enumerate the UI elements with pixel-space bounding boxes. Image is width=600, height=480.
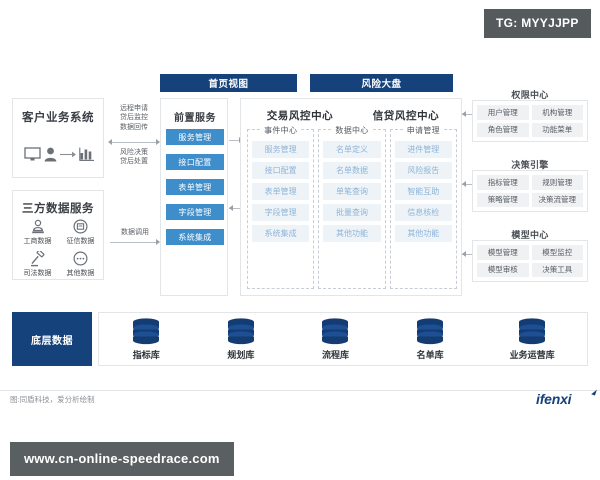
database-icon bbox=[517, 318, 547, 345]
risk-control-center-box: 交易风控中心 信贷风控中心 事件中心 服务管理 接口配置 表单管理 字段管理 系… bbox=[240, 98, 462, 296]
third-party-title: 三方数据服务 bbox=[13, 200, 103, 216]
third-party-item-label: 司法数据 bbox=[24, 268, 52, 278]
risk-column-item[interactable]: 字段管理 bbox=[252, 204, 309, 221]
risk-center-columns: 事件中心 服务管理 接口配置 表单管理 字段管理 系统集成 数据中心 名单定义 … bbox=[247, 129, 457, 289]
database-item[interactable]: 流程库 bbox=[320, 318, 350, 361]
database-label: 指标库 bbox=[133, 348, 160, 361]
permission-cell[interactable]: 角色管理 bbox=[477, 123, 529, 138]
permission-cell[interactable]: 功能菜单 bbox=[532, 123, 584, 138]
rc-rp-arrow-head-3 bbox=[462, 251, 466, 257]
front-service-item[interactable]: 接口配置 bbox=[166, 154, 224, 170]
connector-label-remote-apply: 远程申请 贷后监控 数据回传 bbox=[112, 104, 156, 132]
customer-business-system-title: 客户业务系统 bbox=[13, 109, 103, 125]
model-center-cell[interactable]: 模型监控 bbox=[532, 245, 584, 260]
connector-arrow-line-data bbox=[110, 242, 158, 243]
front-service-item[interactable]: 字段管理 bbox=[166, 204, 224, 220]
url-watermark: www.cn-online-speedrace.com bbox=[10, 442, 234, 476]
risk-center-column-application: 申请管理 进件管理 风险报告 智能互助 信息核检 其他功能 bbox=[390, 129, 457, 289]
bottom-layer-label: 底层数据 bbox=[12, 312, 92, 366]
connector-arrow-line-top bbox=[110, 142, 158, 143]
footer-divider bbox=[0, 390, 600, 391]
permission-cell[interactable]: 机构管理 bbox=[532, 105, 584, 120]
database-label: 流程库 bbox=[322, 348, 349, 361]
monitor-icon bbox=[24, 147, 41, 162]
credit-risk-center-heading: 信贷风控中心 bbox=[353, 108, 459, 123]
tab-risk-dashboard[interactable]: 风险大盘 bbox=[310, 74, 453, 92]
risk-column-items: 名单定义 名单数据 单笔查询 批量查询 其他功能 bbox=[323, 141, 380, 242]
rc-rp-arrow-head-1 bbox=[462, 111, 466, 117]
risk-center-column-data: 数据中心 名单定义 名单数据 单笔查询 批量查询 其他功能 bbox=[318, 129, 385, 289]
database-item[interactable]: 名单库 bbox=[415, 318, 445, 361]
connector-arrow-head-left-top bbox=[108, 139, 112, 145]
ifenxi-logo: ifenxi bbox=[536, 391, 571, 407]
front-service-box: 前置服务 服务管理 接口配置 表单管理 字段管理 系统集成 bbox=[160, 98, 228, 296]
tab-home-view[interactable]: 首页视图 bbox=[160, 74, 297, 92]
database-label: 业务运营库 bbox=[510, 348, 555, 361]
footer-credit: 图:同盾科技，爱分析绘制 bbox=[10, 394, 95, 405]
database-icon bbox=[320, 318, 350, 345]
risk-column-item[interactable]: 服务管理 bbox=[252, 141, 309, 158]
model-center-cell[interactable]: 模型审核 bbox=[477, 263, 529, 278]
third-party-item: 司法数据 bbox=[17, 251, 58, 278]
permission-center-box: 用户管理 机构管理 角色管理 功能菜单 bbox=[472, 100, 588, 142]
fs-rc-arrow-head-bottom bbox=[229, 205, 233, 211]
ellipsis-circle-icon bbox=[73, 251, 88, 267]
risk-column-item[interactable]: 单笔查询 bbox=[323, 183, 380, 200]
diagram-root: TG: MYYJJPP 首页视图 风险大盘 客户业务系统 bbox=[0, 0, 600, 480]
risk-column-items: 进件管理 风险报告 智能互助 信息核检 其他功能 bbox=[395, 141, 452, 242]
credit-circle-icon bbox=[73, 219, 88, 235]
risk-column-title: 事件中心 bbox=[261, 125, 300, 136]
third-party-item-label: 征信数据 bbox=[67, 236, 95, 246]
connector-label-data-call: 数据调用 bbox=[112, 228, 158, 237]
risk-column-item[interactable]: 其他功能 bbox=[323, 225, 380, 242]
risk-column-item[interactable]: 批量查询 bbox=[323, 204, 380, 221]
front-service-title: 前置服务 bbox=[161, 109, 229, 124]
permission-cell[interactable]: 用户管理 bbox=[477, 105, 529, 120]
model-center-box: 模型管理 模型监控 模型审核 决策工具 bbox=[472, 240, 588, 282]
telegram-watermark: TG: MYYJJPP bbox=[484, 9, 591, 38]
front-service-item[interactable]: 表单管理 bbox=[166, 179, 224, 195]
model-center-cell[interactable]: 模型管理 bbox=[477, 245, 529, 260]
model-center-grid: 模型管理 模型监控 模型审核 决策工具 bbox=[477, 245, 583, 277]
bottom-layer-box: 指标库 规划库 bbox=[98, 312, 588, 366]
database-icon bbox=[131, 318, 161, 345]
decision-engine-grid: 指标管理 规则管理 策略管理 决策流管理 bbox=[477, 175, 583, 207]
risk-column-item[interactable]: 智能互助 bbox=[395, 183, 452, 200]
third-party-item: 其他数据 bbox=[60, 251, 101, 278]
front-service-item[interactable]: 系统集成 bbox=[166, 229, 224, 245]
database-row: 指标库 规划库 bbox=[99, 313, 587, 365]
risk-column-item[interactable]: 名单数据 bbox=[323, 162, 380, 179]
database-icon bbox=[226, 318, 256, 345]
database-item[interactable]: 业务运营库 bbox=[510, 318, 555, 361]
connector-label-risk-decision: 风险决策 贷后处置 bbox=[112, 148, 156, 167]
third-party-item-label: 工商数据 bbox=[24, 236, 52, 246]
permission-center-grid: 用户管理 机构管理 角色管理 功能菜单 bbox=[477, 105, 583, 137]
user-icon bbox=[44, 147, 57, 162]
risk-column-item[interactable]: 表单管理 bbox=[252, 183, 309, 200]
decision-engine-box: 指标管理 规则管理 策略管理 决策流管理 bbox=[472, 170, 588, 212]
database-item[interactable]: 规划库 bbox=[226, 318, 256, 361]
decision-engine-cell[interactable]: 指标管理 bbox=[477, 175, 529, 190]
decision-engine-cell[interactable]: 策略管理 bbox=[477, 193, 529, 208]
risk-column-item[interactable]: 进件管理 bbox=[395, 141, 452, 158]
customer-system-icon-row bbox=[13, 137, 105, 171]
transaction-risk-center-heading: 交易风控中心 bbox=[247, 108, 353, 123]
decision-engine-cell[interactable]: 决策流管理 bbox=[532, 193, 584, 208]
diagram-canvas: 首页视图 风险大盘 客户业务系统 bbox=[0, 60, 600, 390]
risk-column-item[interactable]: 其他功能 bbox=[395, 225, 452, 242]
front-service-list: 服务管理 接口配置 表单管理 字段管理 系统集成 bbox=[166, 129, 224, 245]
rc-rp-arrow-head-2 bbox=[462, 181, 466, 187]
gavel-icon bbox=[30, 251, 46, 267]
decision-engine-cell[interactable]: 规则管理 bbox=[532, 175, 584, 190]
risk-column-item[interactable]: 接口配置 bbox=[252, 162, 309, 179]
person-stamp-icon bbox=[31, 219, 45, 235]
risk-center-column-event: 事件中心 服务管理 接口配置 表单管理 字段管理 系统集成 bbox=[247, 129, 314, 289]
database-label: 规划库 bbox=[227, 348, 254, 361]
third-party-item: 工商数据 bbox=[17, 219, 58, 246]
bar-chart-icon bbox=[79, 147, 95, 162]
risk-column-item[interactable]: 系统集成 bbox=[252, 225, 309, 242]
risk-column-item[interactable]: 名单定义 bbox=[323, 141, 380, 158]
third-party-item-label: 其他数据 bbox=[67, 268, 95, 278]
risk-column-title: 申请管理 bbox=[404, 125, 443, 136]
model-center-cell[interactable]: 决策工具 bbox=[532, 263, 584, 278]
third-party-data-service-box: 三方数据服务 工商数据 征信数据 bbox=[12, 190, 104, 280]
ifenxi-logo-mark-icon bbox=[591, 389, 597, 396]
database-icon bbox=[415, 318, 445, 345]
database-label: 名单库 bbox=[417, 348, 444, 361]
front-service-item[interactable]: 服务管理 bbox=[166, 129, 224, 145]
third-party-item: 征信数据 bbox=[60, 219, 101, 246]
risk-column-item[interactable]: 信息核检 bbox=[395, 204, 452, 221]
third-party-grid: 工商数据 征信数据 司法数据 bbox=[17, 219, 101, 278]
arrow-right-icon bbox=[60, 150, 76, 159]
risk-column-item[interactable]: 风险报告 bbox=[395, 162, 452, 179]
risk-column-title: 数据中心 bbox=[332, 125, 371, 136]
customer-business-system-box: 客户业务系统 bbox=[12, 98, 104, 178]
risk-column-items: 服务管理 接口配置 表单管理 字段管理 系统集成 bbox=[252, 141, 309, 242]
database-item[interactable]: 指标库 bbox=[131, 318, 161, 361]
